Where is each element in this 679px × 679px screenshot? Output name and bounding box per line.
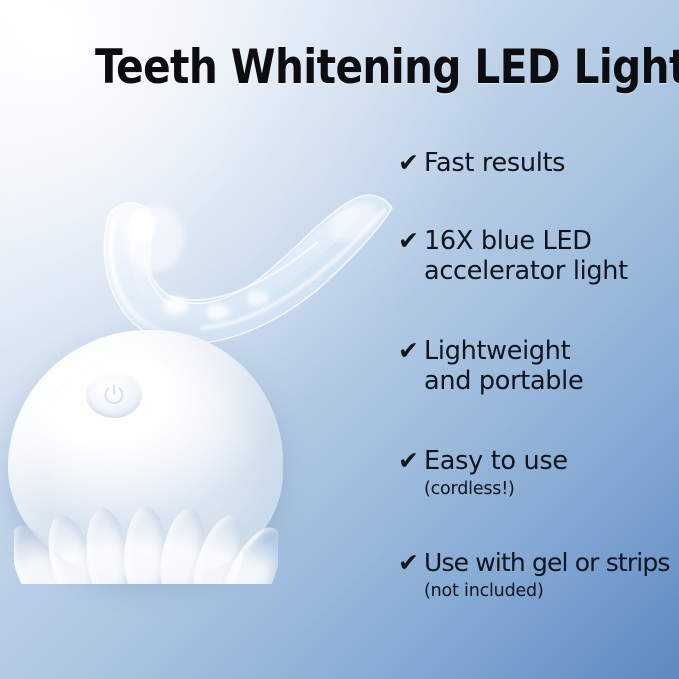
feature-subtext: (cordless!) (424, 479, 568, 500)
check-icon: ✔ (398, 228, 424, 253)
feature-text: Use with gel or strips (424, 548, 670, 578)
product-infographic: Teeth Whitening LED Light ✔Fast results … (0, 0, 679, 679)
mouth-tray-svg (80, 172, 400, 372)
tray-inner-edge (170, 242, 318, 300)
page-title: Teeth Whitening LED Light (95, 42, 594, 94)
check-icon: ✔ (398, 150, 424, 175)
tray-led-glow-2 (206, 304, 230, 320)
mouth-tray (80, 172, 400, 372)
feature-subtext: (not included) (424, 581, 670, 602)
tray-rim-highlight-right (202, 210, 384, 328)
device-body (8, 330, 283, 580)
list-item: ✔16X blue LED accelerator light (398, 226, 628, 286)
feature-text: Lightweight (424, 336, 570, 366)
feature-text: Fast results (424, 148, 565, 178)
feature-text: Easy to use (424, 446, 568, 476)
tray-inner-edge-left (144, 232, 172, 306)
feature-text-line2: accelerator light (424, 256, 628, 286)
tray-right-highlight (323, 195, 384, 250)
tray-rim-highlight-left (111, 220, 160, 330)
feature-text-line2: and portable (424, 366, 583, 396)
power-icon (101, 382, 127, 408)
tray-led-glow-3 (247, 290, 269, 306)
feature-text: 16X blue LED (424, 226, 592, 256)
check-icon: ✔ (398, 338, 424, 363)
list-item: ✔Use with gel or strips (not included) (398, 548, 670, 602)
led-light-device (8, 330, 283, 580)
list-item: ✔Fast results (398, 148, 565, 178)
device-ribs (14, 488, 278, 584)
device-shadow (8, 470, 258, 590)
tray-led-glow-1 (163, 297, 189, 315)
list-item: ✔Easy to use (cordless!) (398, 446, 568, 500)
tray-outer-shell (104, 195, 392, 343)
tray-left-specular (129, 212, 155, 244)
tray-left-highlight (124, 204, 184, 272)
power-button[interactable] (86, 372, 142, 418)
tray-inner-cavity (130, 208, 362, 324)
check-icon: ✔ (398, 550, 424, 575)
list-item: ✔Lightweight and portable (398, 336, 583, 396)
check-icon: ✔ (398, 448, 424, 473)
